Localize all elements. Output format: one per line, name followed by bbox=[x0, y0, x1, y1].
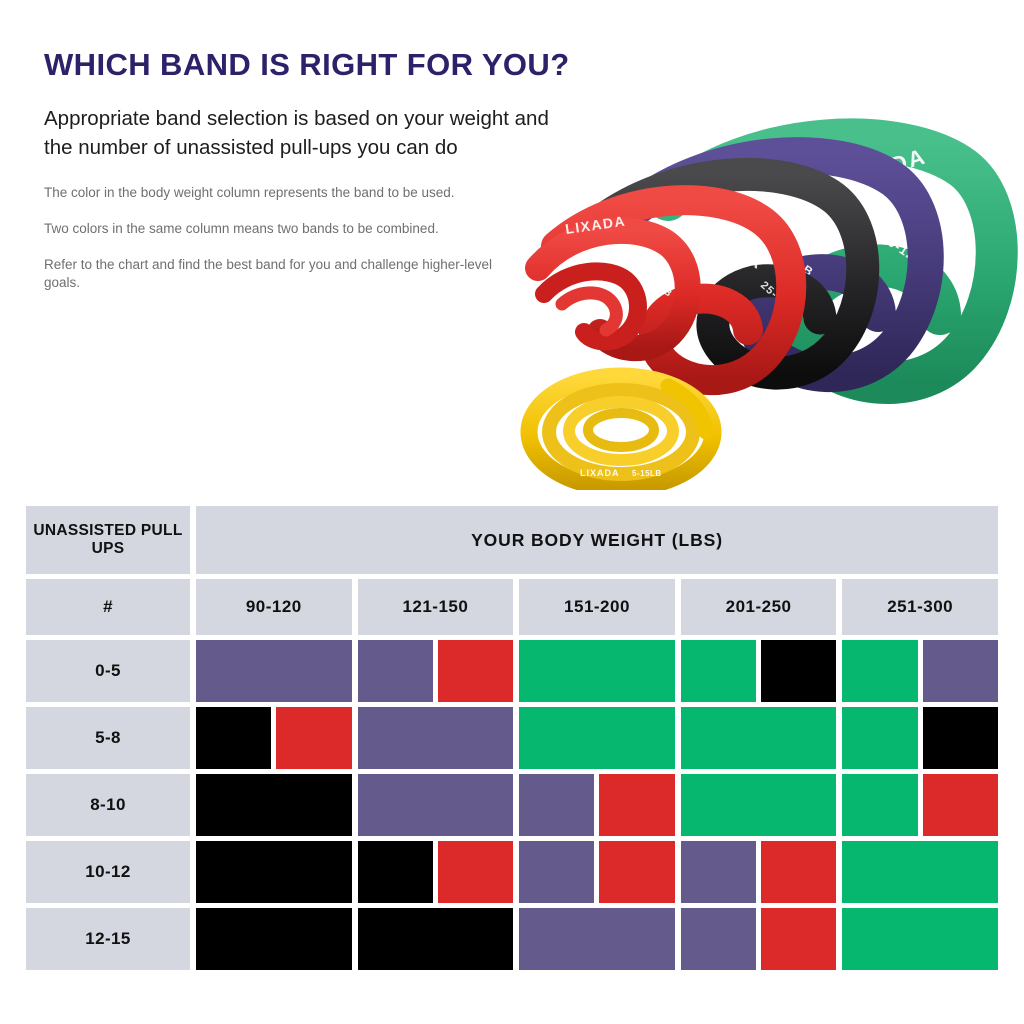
cell-r4-c3 bbox=[681, 908, 837, 970]
band-swatch-green bbox=[842, 640, 917, 702]
band-swatch-purple bbox=[358, 640, 433, 702]
band-swatch-red bbox=[438, 841, 513, 903]
row-header-title-text: UNASSISTED PULL UPS bbox=[26, 522, 190, 558]
cell-r0-c3 bbox=[681, 640, 837, 702]
band-swatch-purple bbox=[519, 774, 594, 836]
band-swatch-green bbox=[842, 707, 917, 769]
cell-r4-c4 bbox=[842, 908, 998, 970]
yellow-band-label: 5-15LB bbox=[632, 469, 662, 478]
band-swatch-red bbox=[276, 707, 351, 769]
column-header-2: 151-200 bbox=[519, 579, 675, 635]
column-headers: 90-120 121-150 151-200 201-250 251-300 bbox=[196, 579, 998, 635]
cell-r2-c0 bbox=[196, 774, 352, 836]
column-header-0: 90-120 bbox=[196, 579, 352, 635]
row-label: 0-5 bbox=[26, 640, 190, 702]
band-swatch-purple bbox=[519, 841, 594, 903]
cell-r4-c0 bbox=[196, 908, 352, 970]
cell-r3-c1 bbox=[358, 841, 514, 903]
column-header-4: 251-300 bbox=[842, 579, 998, 635]
table-row: 5-8 bbox=[26, 707, 998, 769]
band-swatch-black bbox=[923, 707, 998, 769]
row-header-title: UNASSISTED PULL UPS bbox=[26, 506, 190, 574]
yellow-band: LIXADA 5-15LB bbox=[529, 376, 713, 488]
cell-r2-c4 bbox=[842, 774, 998, 836]
band-swatch-purple bbox=[358, 707, 514, 769]
band-swatch-green bbox=[519, 707, 675, 769]
cell-r1-c2 bbox=[519, 707, 675, 769]
row-cells bbox=[196, 707, 998, 769]
band-swatch-black bbox=[358, 908, 514, 970]
cell-r0-c1 bbox=[358, 640, 514, 702]
yellow-band-brand: LIXADA bbox=[580, 468, 620, 478]
row-label: 12-15 bbox=[26, 908, 190, 970]
band-swatch-green bbox=[842, 774, 917, 836]
band-swatch-black bbox=[196, 774, 352, 836]
cell-r3-c0 bbox=[196, 841, 352, 903]
band-swatch-green bbox=[519, 640, 675, 702]
band-swatch-green bbox=[681, 774, 837, 836]
table-row: 0-5 bbox=[26, 640, 998, 702]
band-selection-chart: UNASSISTED PULL UPS YOUR BODY WEIGHT (LB… bbox=[26, 506, 998, 975]
intro-lede: Appropriate band selection is based on y… bbox=[44, 104, 574, 162]
band-swatch-green bbox=[681, 640, 756, 702]
cell-r1-c4 bbox=[842, 707, 998, 769]
table-row: 10-12 bbox=[26, 841, 998, 903]
band-swatch-red bbox=[761, 908, 836, 970]
column-group-title: YOUR BODY WEIGHT (LBS) bbox=[196, 506, 998, 574]
cell-r3-c2 bbox=[519, 841, 675, 903]
cell-r0-c4 bbox=[842, 640, 998, 702]
row-cells bbox=[196, 640, 998, 702]
column-header-1: 121-150 bbox=[358, 579, 514, 635]
cell-r3-c4 bbox=[842, 841, 998, 903]
band-swatch-green bbox=[681, 707, 837, 769]
band-swatch-black bbox=[196, 908, 352, 970]
cell-r2-c1 bbox=[358, 774, 514, 836]
band-swatch-purple bbox=[681, 841, 756, 903]
band-swatch-green bbox=[842, 841, 998, 903]
table-row: 12-15 bbox=[26, 908, 998, 970]
band-swatch-red bbox=[599, 841, 674, 903]
band-swatch-green bbox=[842, 908, 998, 970]
cell-r0-c0 bbox=[196, 640, 352, 702]
band-swatch-red bbox=[599, 774, 674, 836]
band-swatch-purple bbox=[519, 908, 675, 970]
note-3: Refer to the chart and find the best ban… bbox=[44, 256, 499, 293]
cell-r4-c1 bbox=[358, 908, 514, 970]
row-label: 5-8 bbox=[26, 707, 190, 769]
note-1: The color in the body weight column repr… bbox=[44, 184, 499, 203]
band-swatch-black bbox=[761, 640, 836, 702]
row-cells bbox=[196, 774, 998, 836]
row-header-sub: # bbox=[26, 579, 190, 635]
chart-header-row: UNASSISTED PULL UPS YOUR BODY WEIGHT (LB… bbox=[26, 506, 998, 574]
page-title: WHICH BAND IS RIGHT FOR YOU? bbox=[44, 48, 604, 82]
band-swatch-red bbox=[761, 841, 836, 903]
band-swatch-red bbox=[923, 774, 998, 836]
row-label: 8-10 bbox=[26, 774, 190, 836]
cell-r2-c3 bbox=[681, 774, 837, 836]
table-row: 8-10 bbox=[26, 774, 998, 836]
band-swatch-purple bbox=[358, 774, 514, 836]
band-swatch-red bbox=[438, 640, 513, 702]
chart-subheader-row: # 90-120 121-150 151-200 201-250 251-300 bbox=[26, 579, 998, 635]
cell-r1-c0 bbox=[196, 707, 352, 769]
resistance-bands-photo: LIXADA 50-125LB LIXADA 35-85LB LIXADA 25… bbox=[508, 118, 1024, 490]
band-swatch-black bbox=[358, 841, 433, 903]
cell-r0-c2 bbox=[519, 640, 675, 702]
cell-r1-c1 bbox=[358, 707, 514, 769]
band-swatch-purple bbox=[681, 908, 756, 970]
band-swatch-black bbox=[196, 841, 352, 903]
column-header-3: 201-250 bbox=[681, 579, 837, 635]
row-cells bbox=[196, 908, 998, 970]
band-swatch-purple bbox=[923, 640, 998, 702]
row-cells bbox=[196, 841, 998, 903]
row-label: 10-12 bbox=[26, 841, 190, 903]
note-2: Two colors in the same column means two … bbox=[44, 220, 499, 239]
band-swatch-black bbox=[196, 707, 271, 769]
cell-r2-c2 bbox=[519, 774, 675, 836]
band-swatch-purple bbox=[196, 640, 352, 702]
cell-r4-c2 bbox=[519, 908, 675, 970]
cell-r3-c3 bbox=[681, 841, 837, 903]
cell-r1-c3 bbox=[681, 707, 837, 769]
